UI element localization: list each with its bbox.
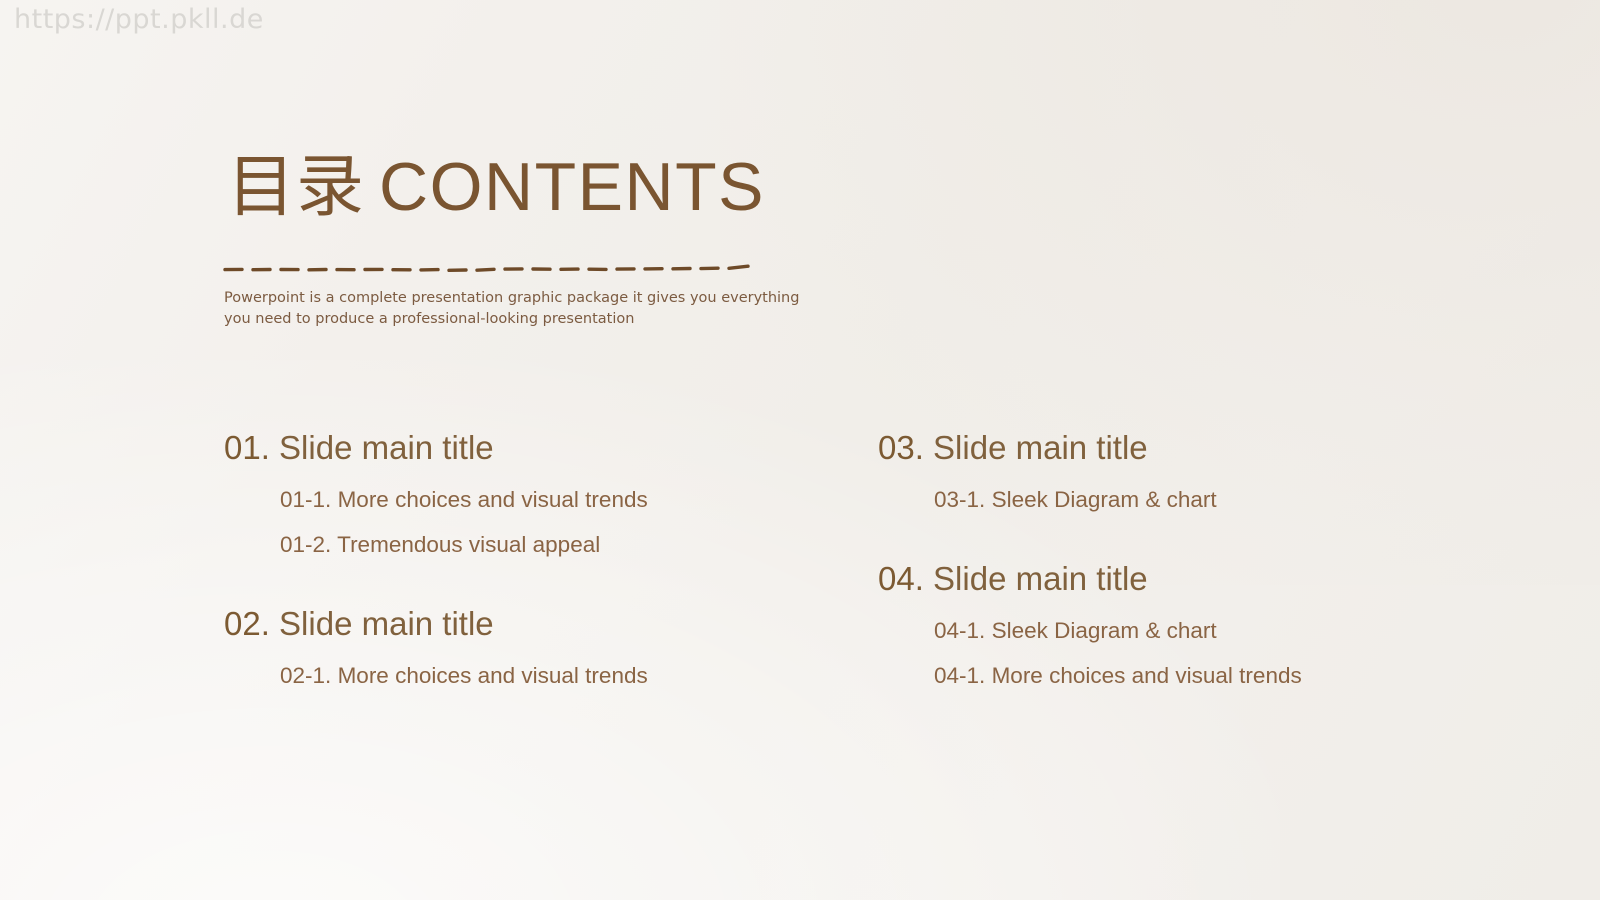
sub-item-04-1[interactable]: 04-1. Sleek Diagram & chart — [934, 619, 1302, 644]
slide-canvas: https://ppt.pkll.de 目录CONTENTS — [0, 0, 1600, 900]
section-number-04: 04. — [878, 560, 924, 597]
slide-header: 目录CONTENTS — [227, 152, 765, 223]
sub-item-text-01-1: More choices and visual trends — [338, 487, 648, 512]
sub-item-04-2[interactable]: 04-1. More choices and visual trends — [934, 664, 1302, 689]
sub-item-01-1[interactable]: 01-1. More choices and visual trends — [280, 488, 648, 513]
section-number-01: 01. — [224, 429, 270, 466]
sub-item-number-04-1: 04-1. — [934, 618, 985, 643]
section-title-03: Slide main title — [933, 429, 1148, 466]
sub-item-number-01-2: 01-2. — [280, 532, 331, 557]
section-title-02: Slide main title — [279, 605, 494, 642]
page-title: 目录CONTENTS — [227, 152, 765, 223]
section-title-01: Slide main title — [279, 429, 494, 466]
section-heading-03: 03. Slide main title — [878, 430, 1217, 466]
contents-section-02[interactable]: 02. Slide main title 02-1. More choices … — [224, 606, 648, 689]
sub-item-number-02-1: 02-1. — [280, 663, 331, 688]
sub-item-03-1[interactable]: 03-1. Sleek Diagram & chart — [934, 488, 1217, 513]
section-heading-02: 02. Slide main title — [224, 606, 648, 642]
slide-description: Powerpoint is a complete presentation gr… — [224, 288, 784, 330]
sub-item-text-04-1: Sleek Diagram & chart — [992, 618, 1217, 643]
sub-item-text-01-2: Tremendous visual appeal — [337, 532, 600, 557]
section-number-02: 02. — [224, 605, 270, 642]
description-line-1: Powerpoint is a complete presentation gr… — [224, 288, 784, 309]
contents-section-01[interactable]: 01. Slide main title 01-1. More choices … — [224, 430, 648, 558]
contents-section-04[interactable]: 04. Slide main title 04-1. Sleek Diagram… — [878, 561, 1302, 689]
sub-item-number-04-2: 04-1. — [934, 663, 985, 688]
dashed-divider — [222, 256, 762, 278]
sub-item-text-02-1: More choices and visual trends — [338, 663, 648, 688]
section-number-03: 03. — [878, 429, 924, 466]
sub-item-number-03-1: 03-1. — [934, 487, 985, 512]
sub-item-02-1[interactable]: 02-1. More choices and visual trends — [280, 664, 648, 689]
page-title-latin: CONTENTS — [379, 149, 765, 225]
section-heading-01: 01. Slide main title — [224, 430, 648, 466]
watermark-url: https://ppt.pkll.de — [14, 4, 264, 35]
sub-item-01-2[interactable]: 01-2. Tremendous visual appeal — [280, 533, 648, 558]
sub-item-text-04-2: More choices and visual trends — [992, 663, 1302, 688]
section-heading-04: 04. Slide main title — [878, 561, 1302, 597]
description-line-2: you need to produce a professional-looki… — [224, 309, 784, 330]
sub-item-text-03-1: Sleek Diagram & chart — [992, 487, 1217, 512]
page-title-cjk: 目录 — [227, 149, 365, 225]
section-title-04: Slide main title — [933, 560, 1148, 597]
contents-section-03[interactable]: 03. Slide main title 03-1. Sleek Diagram… — [878, 430, 1217, 513]
sub-item-number-01-1: 01-1. — [280, 487, 331, 512]
